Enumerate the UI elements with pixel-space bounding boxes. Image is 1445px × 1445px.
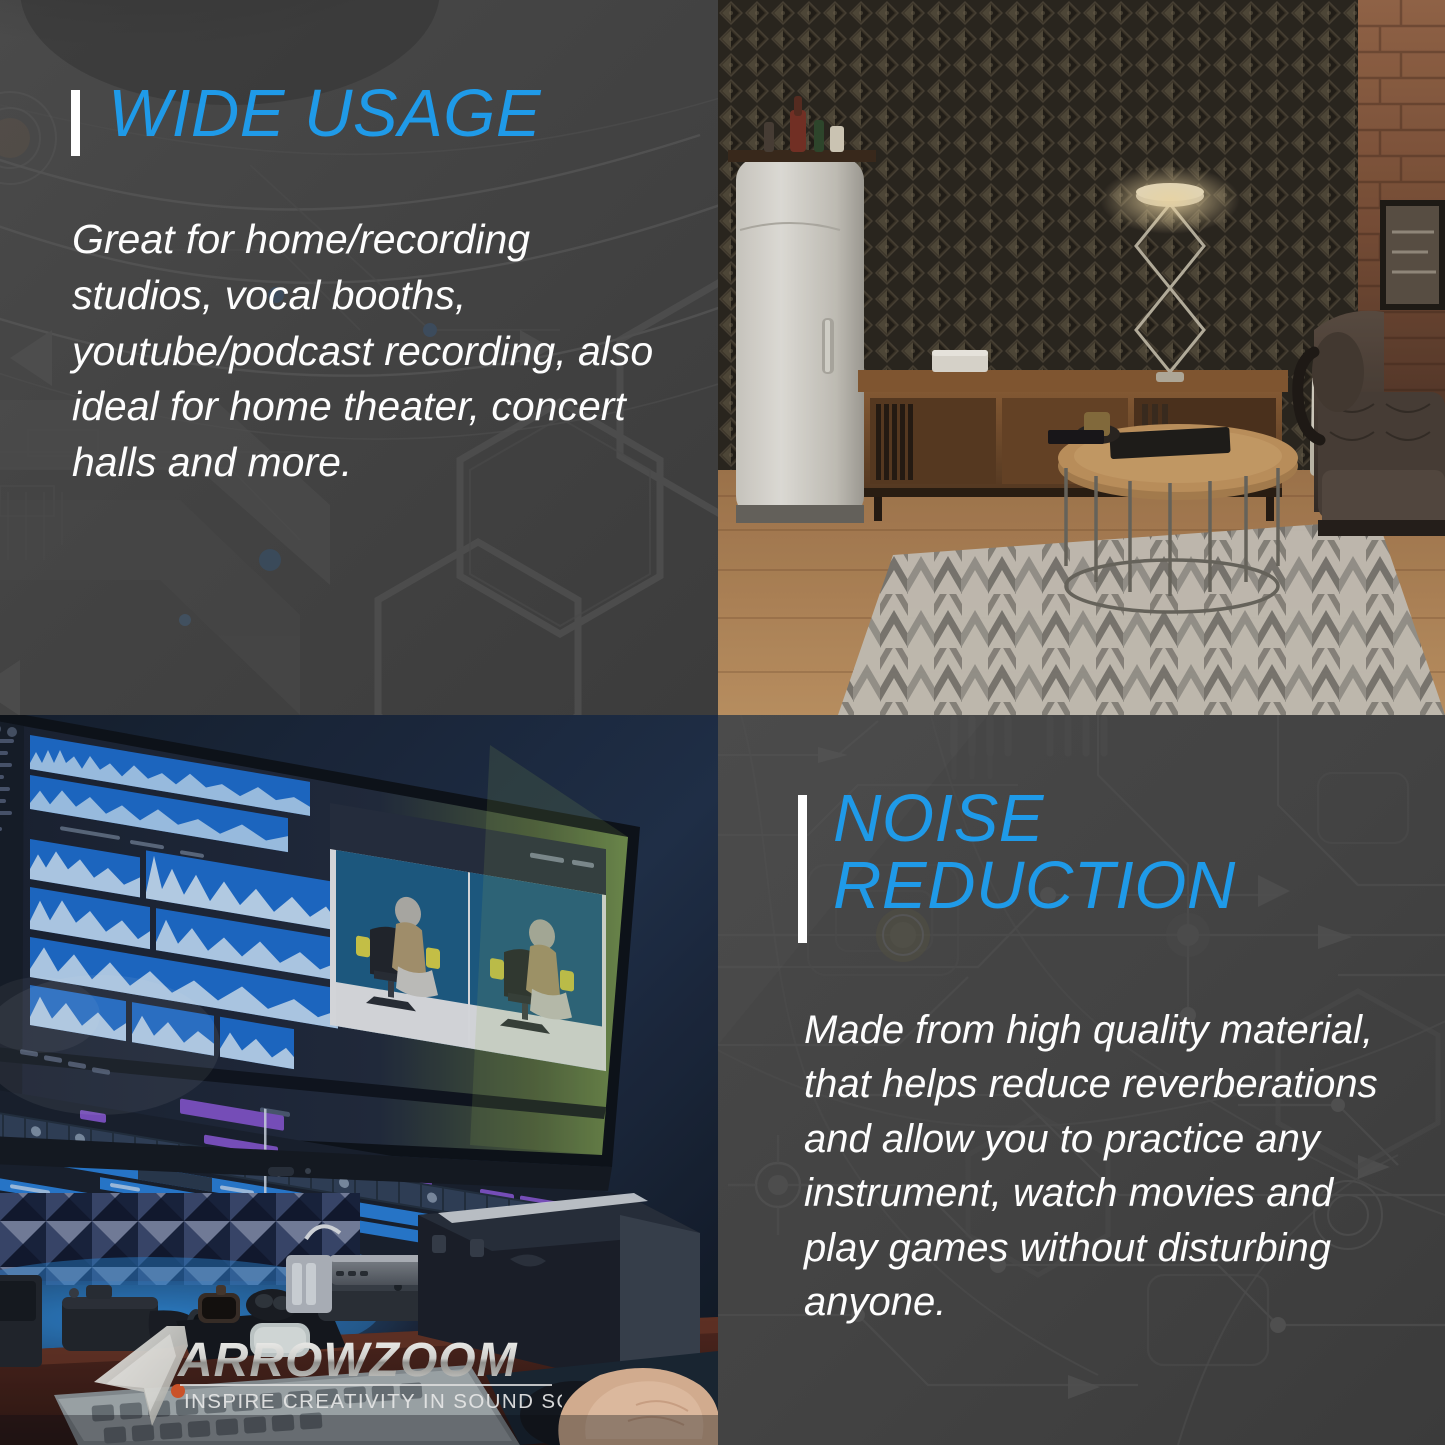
accent-bar-icon: [71, 90, 80, 156]
photo-living-room: [718, 0, 1445, 715]
arrowzoom-tagline: INSPIRE CREATIVITY IN SOUND SOLUTIONS: [184, 1390, 562, 1413]
wide-usage-heading-row: WIDE USAGE: [62, 80, 718, 156]
page-title-wide-usage: WIDE USAGE: [108, 80, 541, 147]
arrowzoom-wordmark: ARROWZOOM: [177, 1334, 518, 1387]
panel-noise-reduction: NOISE REDUCTION Made from high quality m…: [718, 715, 1445, 1445]
wide-usage-body-text: Great for home/recording studios, vocal …: [72, 212, 672, 491]
noise-reduction-body-text: Made from high quality material, that he…: [804, 1003, 1404, 1329]
arrowzoom-logo: ARROWZOOM INSPIRE CREATIVITY IN SOUND SO…: [92, 1326, 562, 1426]
panel-wide-usage: WIDE USAGE Great for home/recording stud…: [0, 0, 718, 715]
product-feature-collage: WIDE USAGE Great for home/recording stud…: [0, 0, 1445, 1445]
accent-bar-icon: [798, 795, 807, 943]
page-title-noise-line1: NOISE: [833, 785, 1236, 852]
noise-reduction-heading-row: NOISE REDUCTION: [798, 785, 1445, 943]
page-title-noise-line2: REDUCTION: [833, 852, 1236, 919]
